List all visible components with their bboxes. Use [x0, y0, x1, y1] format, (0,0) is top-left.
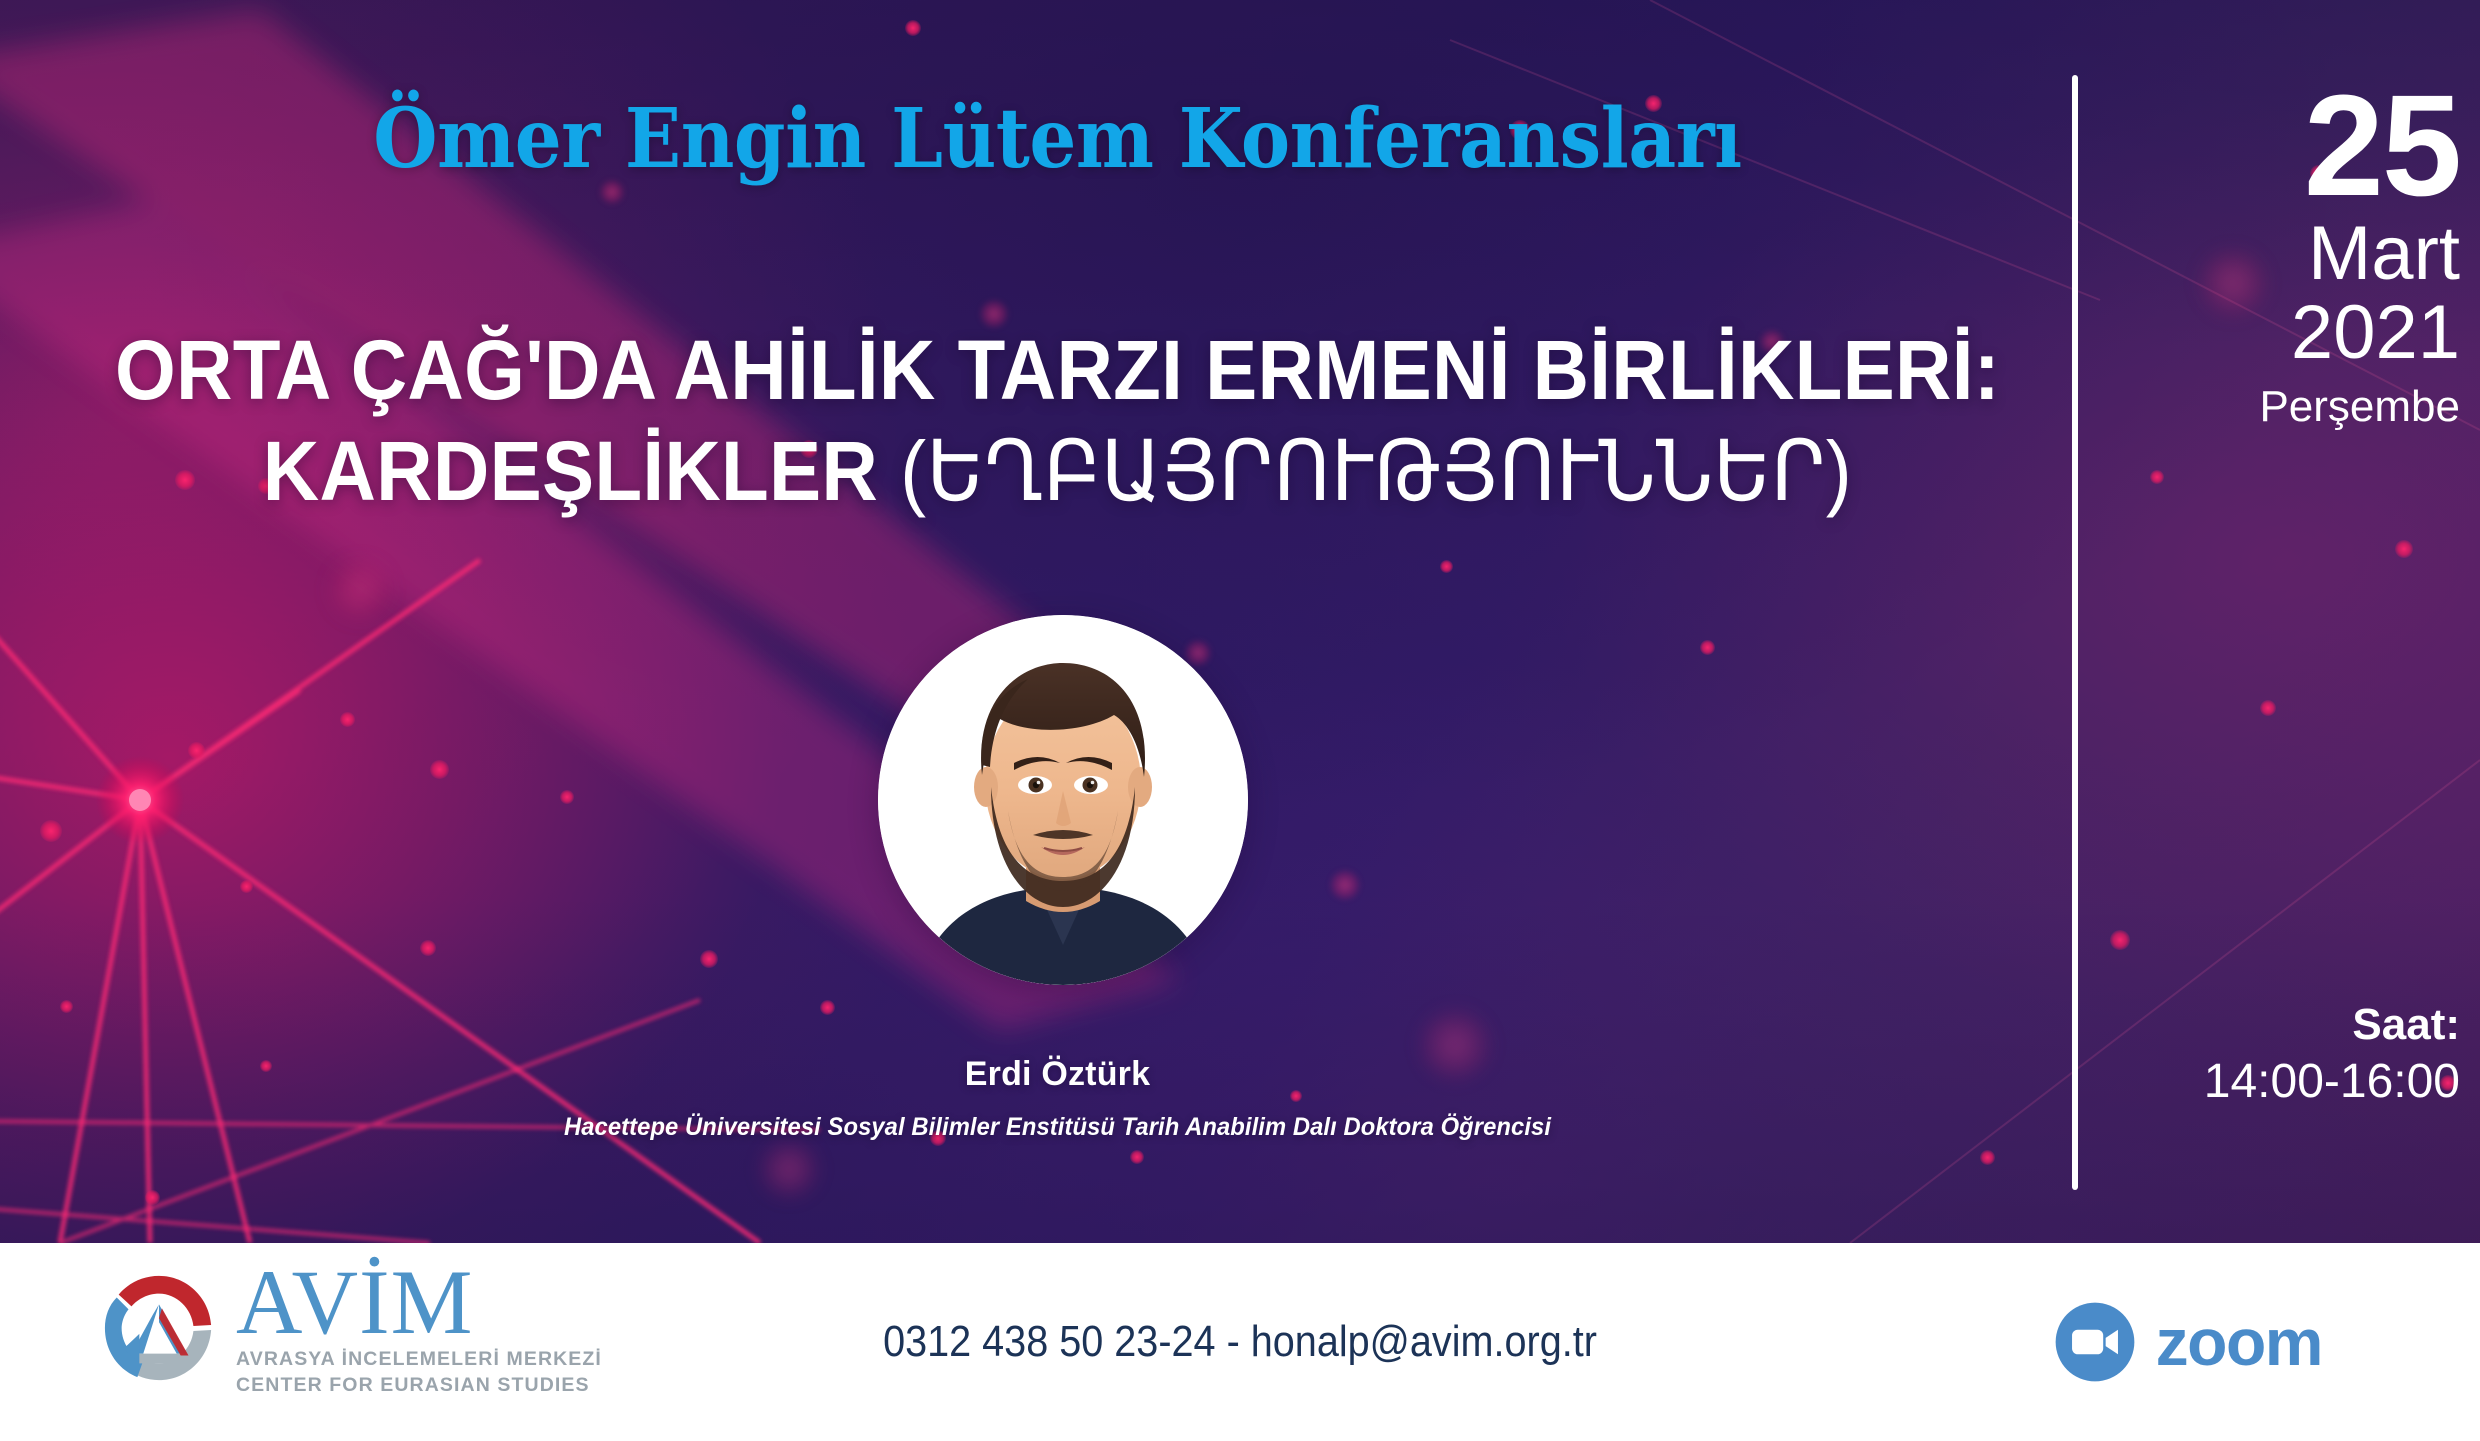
bokeh-dot [1330, 870, 1360, 900]
bokeh-dot [560, 790, 574, 804]
bokeh-dot [145, 1190, 160, 1205]
speaker-portrait-illustration [878, 615, 1248, 985]
bokeh-dot [240, 880, 253, 893]
event-poster: Ömer Engin Lütem Konferansları ORTA ÇAĞ'… [0, 0, 2480, 1441]
bokeh-dot [820, 1000, 835, 1015]
title-line-2-turkish: KARDEŞLİKLER [263, 424, 900, 518]
bokeh-dot [2395, 540, 2413, 558]
bokeh-dot [760, 1140, 818, 1198]
speaker-affiliation: Hacettepe Üniversitesi Sosyal Bilimler E… [53, 1113, 2062, 1142]
bokeh-dot [1700, 640, 1715, 655]
speaker-portrait [878, 615, 1248, 985]
date-year: 2021 [2080, 293, 2460, 373]
event-date-block: 25 Mart 2021 Perşembe [2080, 78, 2460, 433]
avim-wordmark: AVİM [236, 1257, 602, 1347]
bokeh-dot [420, 940, 436, 956]
bokeh-dot [430, 760, 449, 779]
zoom-camera-icon [2054, 1301, 2136, 1383]
bokeh-dot [188, 742, 205, 759]
bokeh-dot [905, 20, 921, 36]
event-time-block: Saat: 14:00-16:00 [2080, 1000, 2460, 1110]
bokeh-dot [1440, 560, 1453, 573]
date-weekday: Perşembe [2080, 381, 2460, 434]
speaker-name: Erdi Öztürk [0, 1055, 2115, 1094]
poster-footer: 0312 438 50 23-24 - honalp@avim.org.tr [0, 1243, 2480, 1441]
bokeh-dot [2260, 700, 2276, 716]
date-day: 25 [2080, 78, 2460, 213]
bokeh-dot [1130, 1150, 1144, 1164]
bokeh-dot [1980, 1150, 1995, 1165]
time-value: 14:00-16:00 [2080, 1053, 2460, 1111]
poster-hero-background: Ömer Engin Lütem Konferansları ORTA ÇAĞ'… [0, 0, 2480, 1243]
bokeh-dot [700, 950, 718, 968]
zoom-wordmark: zoom [2156, 1309, 2322, 1375]
title-line-1: ORTA ÇAĞ'DA AHİLİK TARZI ERMENİ BİRLİKLE… [74, 320, 2041, 421]
avim-wordmark-block: AVİM AVRASYA İNCELEMELERİ MERKEZİ CENTER… [236, 1257, 602, 1399]
date-month: Mart [2080, 215, 2460, 293]
zoom-logo: zoom [2054, 1301, 2322, 1383]
bokeh-dot [330, 560, 390, 620]
avim-swirl-icon [100, 1269, 218, 1387]
bokeh-dot [40, 820, 62, 842]
conference-series-title: Ömer Engin Lütem Konferansları [106, 98, 2010, 180]
avim-subtitle-en: CENTER FOR EURASIAN STUDIES [236, 1373, 602, 1399]
avim-logo: AVİM AVRASYA İNCELEMELERİ MERKEZİ CENTER… [100, 1257, 602, 1399]
title-line-2-armenian: (ԵՂԲԱՅՐՈՒԹՅՈՒՆՆԵՐ) [900, 424, 1852, 518]
bokeh-dot [60, 1000, 73, 1013]
bokeh-dot [2150, 470, 2164, 484]
time-label: Saat: [2080, 1000, 2460, 1051]
bokeh-dot [1185, 640, 1211, 666]
page-title: ORTA ÇAĞ'DA AHİLİK TARZI ERMENİ BİRLİKLE… [0, 320, 2115, 522]
title-line-2: KARDEŞLİKLER (ԵՂԲԱՅՐՈՒԹՅՈՒՆՆԵՐ) [74, 421, 2041, 522]
bokeh-dot [2110, 930, 2130, 950]
avim-subtitle-tr: AVRASYA İNCELEMELERİ MERKEZİ [236, 1347, 602, 1373]
bokeh-dot [340, 712, 355, 727]
vertical-divider [2072, 75, 2078, 1190]
